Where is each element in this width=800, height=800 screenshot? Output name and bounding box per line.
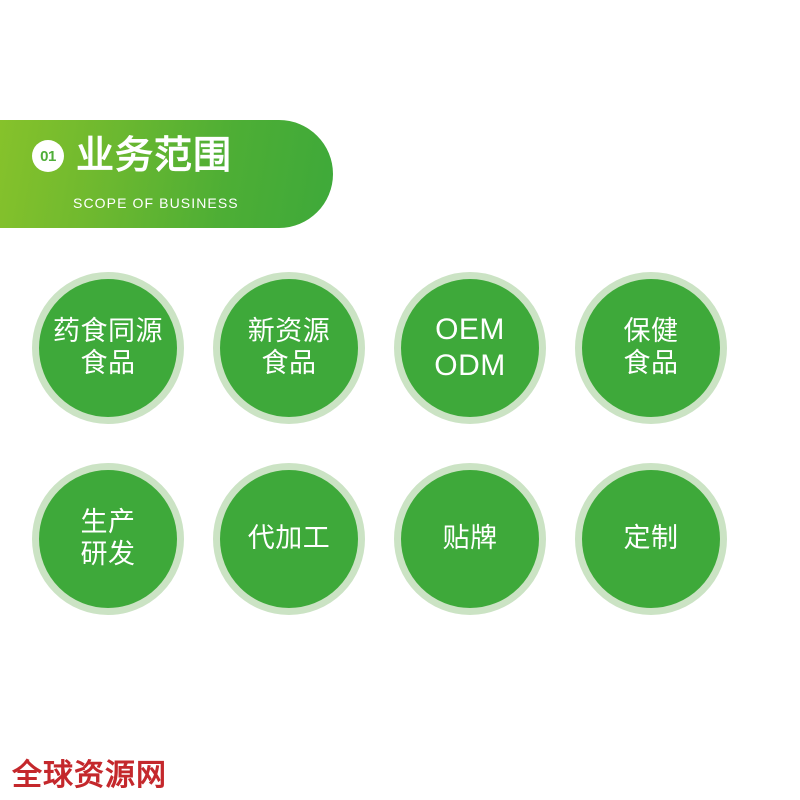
- business-scope-grid: 药食同源 食品 新资源 食品 OEM ODM 保健 食品 生产 研发 代加工 贴…: [32, 272, 732, 654]
- bubble-item[interactable]: 生产 研发: [32, 463, 184, 615]
- bubble-item[interactable]: 药食同源 食品: [32, 272, 184, 424]
- bubble-label: 代加工: [248, 523, 331, 555]
- section-header-banner: 01 业务范围 SCOPE OF BUSINESS: [0, 120, 333, 228]
- bubble-item[interactable]: 代加工: [213, 463, 365, 615]
- bubble-item[interactable]: 贴牌: [394, 463, 546, 615]
- bubble-item[interactable]: 保健 食品: [575, 272, 727, 424]
- bubble-item[interactable]: 新资源 食品: [213, 272, 365, 424]
- bubble-label: 定制: [624, 523, 679, 555]
- bubble-label: 保健 食品: [624, 316, 679, 380]
- site-watermark: 全球资源网: [12, 761, 167, 791]
- section-subtitle: SCOPE OF BUSINESS: [73, 196, 239, 210]
- section-number-badge: 01: [32, 140, 64, 172]
- bubble-item[interactable]: OEM ODM: [394, 272, 546, 424]
- section-title: 业务范围: [76, 137, 232, 175]
- bubble-row-1: 药食同源 食品 新资源 食品 OEM ODM 保健 食品: [32, 272, 732, 424]
- poster-canvas: 01 业务范围 SCOPE OF BUSINESS 药食同源 食品 新资源 食品…: [0, 0, 800, 800]
- bubble-label: OEM ODM: [434, 312, 506, 384]
- banner-title-row: 01 业务范围: [32, 137, 232, 175]
- bubble-label: 贴牌: [443, 523, 498, 555]
- bubble-label: 药食同源 食品: [53, 316, 163, 380]
- bubble-label: 生产 研发: [81, 507, 136, 571]
- bubble-row-2: 生产 研发 代加工 贴牌 定制: [32, 463, 732, 615]
- bubble-label: 新资源 食品: [248, 316, 331, 380]
- bubble-item[interactable]: 定制: [575, 463, 727, 615]
